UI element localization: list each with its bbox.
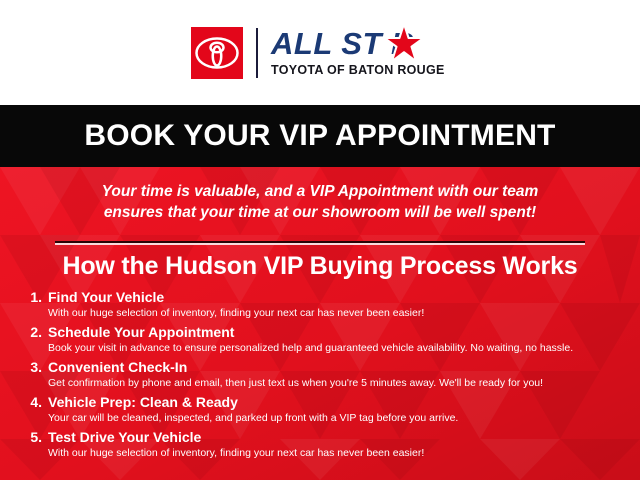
step-description: With our huge selection of inventory, fi… bbox=[48, 306, 630, 320]
subtitle-line-1: Your time is valuable, and a VIP Appoint… bbox=[0, 181, 640, 202]
allstar-subtitle: TOYOTA OF BATON ROUGE bbox=[271, 63, 449, 78]
step-title: Convenient Check-In bbox=[48, 359, 630, 376]
horizontal-divider bbox=[55, 241, 585, 245]
step-body: Vehicle Prep: Clean & Ready Your car wil… bbox=[48, 394, 630, 425]
step-number: 1. bbox=[14, 289, 42, 306]
step-title: Find Your Vehicle bbox=[48, 289, 630, 306]
content-inner: Your time is valuable, and a VIP Appoint… bbox=[0, 167, 640, 480]
promo-flyer: ALL ST R TOYOTA OF BATON ROUGE BOOK YOUR… bbox=[0, 0, 640, 480]
process-steps-list: 1. Find Your Vehicle With our huge selec… bbox=[14, 289, 630, 464]
step-number: 5. bbox=[14, 429, 42, 446]
step-body: Find Your Vehicle With our huge selectio… bbox=[48, 289, 630, 320]
allstar-brand: ALL ST R TOYOTA OF BATON ROUGE bbox=[271, 27, 449, 78]
step-number: 2. bbox=[14, 324, 42, 341]
step-number: 4. bbox=[14, 394, 42, 411]
logo-header: ALL ST R TOYOTA OF BATON ROUGE bbox=[0, 0, 640, 105]
title-banner: BOOK YOUR VIP APPOINTMENT bbox=[0, 105, 640, 167]
page-title: BOOK YOUR VIP APPOINTMENT bbox=[84, 119, 555, 153]
step-number: 3. bbox=[14, 359, 42, 376]
section-heading: How the Hudson VIP Buying Process Works bbox=[0, 252, 640, 281]
list-item: 4. Vehicle Prep: Clean & Ready Your car … bbox=[14, 394, 630, 429]
step-body: Convenient Check-In Get confirmation by … bbox=[48, 359, 630, 390]
divider-light-line bbox=[55, 243, 585, 245]
subtitle-text: Your time is valuable, and a VIP Appoint… bbox=[0, 181, 640, 223]
step-description: Book your visit in advance to ensure per… bbox=[48, 341, 630, 355]
step-description: With our huge selection of inventory, fi… bbox=[48, 446, 630, 460]
list-item: 5. Test Drive Your Vehicle With our huge… bbox=[14, 429, 630, 464]
step-description: Your car will be cleaned, inspected, and… bbox=[48, 411, 630, 425]
list-item: 2. Schedule Your Appointment Book your v… bbox=[14, 324, 630, 359]
list-item: 1. Find Your Vehicle With our huge selec… bbox=[14, 289, 630, 324]
list-item: 3. Convenient Check-In Get confirmation … bbox=[14, 359, 630, 394]
content-band: Your time is valuable, and a VIP Appoint… bbox=[0, 167, 640, 480]
toyota-emblem-icon bbox=[191, 27, 243, 79]
step-title: Vehicle Prep: Clean & Ready bbox=[48, 394, 630, 411]
step-body: Test Drive Your Vehicle With our huge se… bbox=[48, 429, 630, 460]
logo-divider bbox=[256, 28, 258, 78]
step-body: Schedule Your Appointment Book your visi… bbox=[48, 324, 630, 355]
logo-lockup: ALL ST R TOYOTA OF BATON ROUGE bbox=[191, 25, 449, 81]
step-title: Test Drive Your Vehicle bbox=[48, 429, 630, 446]
red-star-icon bbox=[383, 23, 425, 63]
allstar-wordmark: ALL ST R bbox=[271, 27, 449, 61]
step-description: Get confirmation by phone and email, the… bbox=[48, 376, 630, 390]
step-title: Schedule Your Appointment bbox=[48, 324, 630, 341]
subtitle-line-2: ensures that your time at our showroom w… bbox=[0, 202, 640, 223]
